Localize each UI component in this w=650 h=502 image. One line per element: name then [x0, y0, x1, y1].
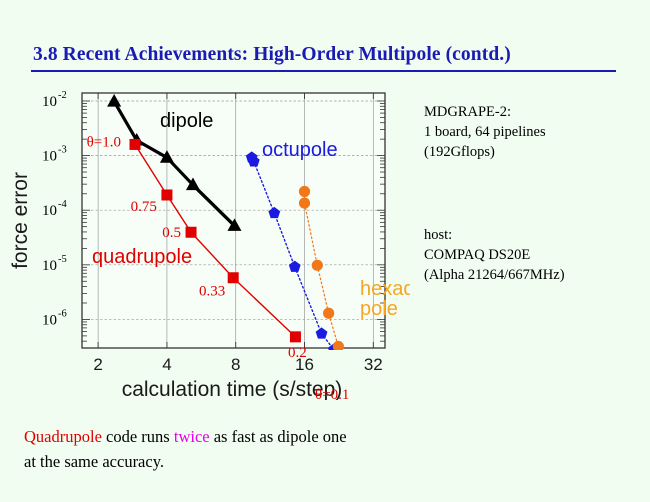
y-axis-title: force error	[9, 172, 32, 269]
y-tick-mantissa: 10	[42, 312, 57, 328]
caption-line-2: at the same accuracy.	[24, 449, 347, 474]
x-tick-label: 4	[162, 355, 171, 374]
force-error-vs-time-chart: 10-210-310-410-510-62481632calculation t…	[0, 80, 410, 400]
host-info-line2: COMPAQ DS20E	[424, 245, 565, 265]
machine-info-line3: (192Gflops)	[424, 142, 546, 162]
machine-info-block: MDGRAPE-2: 1 board, 64 pipelines (192Gfl…	[424, 102, 546, 162]
caption-quadrupole-word: Quadrupole	[24, 427, 102, 446]
marker-hexadecapole	[333, 341, 344, 352]
series-annotation-pole: pole	[360, 298, 398, 320]
y-tick-exponent: -6	[58, 308, 67, 319]
marker-quadrupole	[186, 227, 197, 238]
chart-container: 10-210-310-410-510-62481632calculation t…	[0, 80, 410, 400]
caption-twice-word: twice	[174, 427, 210, 446]
marker-hexadecapole	[299, 197, 310, 208]
host-info-block: host: COMPAQ DS20E (Alpha 21264/667MHz)	[424, 225, 565, 285]
y-tick-mantissa: 10	[42, 94, 57, 110]
slide-canvas: 3.8 Recent Achievements: High-Order Mult…	[0, 0, 650, 502]
machine-info-line1: MDGRAPE-2:	[424, 102, 546, 122]
marker-quadrupole	[161, 189, 172, 200]
caption-line-1: Quadrupole code runs twice as fast as di…	[24, 424, 347, 449]
series-annotation-dipole: dipole	[160, 110, 213, 132]
x-tick-label: 2	[93, 355, 102, 374]
host-info-line3: (Alpha 21264/667MHz)	[424, 265, 565, 285]
y-tick-label: 10-2	[42, 90, 67, 110]
marker-quadrupole	[290, 331, 301, 342]
y-tick-exponent: -5	[58, 254, 67, 265]
y-tick-mantissa: 10	[42, 149, 57, 165]
machine-info-line2: 1 board, 64 pipelines	[424, 122, 546, 142]
y-tick-mantissa: 10	[42, 203, 57, 219]
y-tick-label: 10-5	[42, 254, 67, 274]
marker-quadrupole	[130, 139, 141, 150]
page-title: 3.8 Recent Achievements: High-Order Mult…	[33, 44, 511, 66]
title-underline	[31, 70, 616, 72]
y-tick-label: 10-3	[42, 145, 67, 165]
summary-caption: Quadrupole code runs twice as fast as di…	[24, 424, 347, 474]
y-tick-exponent: -4	[58, 199, 67, 210]
x-tick-label: 32	[364, 355, 383, 374]
y-tick-label: 10-6	[42, 308, 67, 328]
series-annotation-octupole: octupole	[262, 139, 338, 161]
y-tick-exponent: -3	[58, 145, 67, 156]
theta-label-2: 0.5	[162, 225, 181, 241]
y-tick-exponent: -2	[58, 90, 67, 101]
caption-text-a: code runs	[102, 427, 174, 446]
x-tick-label: 8	[231, 355, 240, 374]
marker-hexadecapole	[299, 186, 310, 197]
series-annotation-quadrupole: quadrupole	[92, 246, 192, 268]
caption-text-b: as fast as dipole one	[210, 427, 347, 446]
y-tick-label: 10-4	[42, 199, 67, 219]
marker-quadrupole	[228, 272, 239, 283]
theta-label-last: θ=0.1	[315, 387, 349, 400]
host-info-line1: host:	[424, 225, 565, 245]
theta-label-0: θ=1.0	[87, 134, 121, 150]
x-axis-title: calculation time (s/step)	[122, 378, 343, 400]
theta-label-1: 0.75	[131, 199, 157, 215]
y-tick-mantissa: 10	[42, 258, 57, 274]
marker-hexadecapole	[312, 260, 323, 271]
theta-label-3: 0.33	[199, 284, 225, 300]
theta-label-4: 0.2	[288, 345, 307, 361]
marker-hexadecapole	[323, 308, 334, 319]
series-annotation-hexadeca: hexadeca-	[360, 278, 410, 300]
